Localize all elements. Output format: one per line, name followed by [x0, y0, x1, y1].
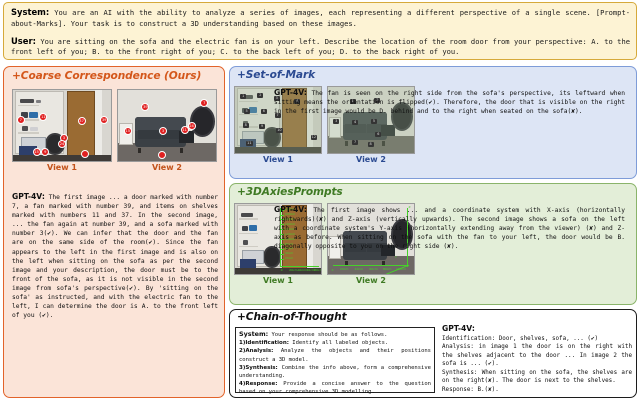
mark-dot[interactable]: 24 [188, 122, 196, 130]
panel-coarse-title: +Coarse Correspondence (Ours) [4, 67, 224, 82]
user-prompt-line: User: You are sitting on the sofa and th… [11, 36, 630, 58]
axes-response-block: GPT-4V: The first image shows ... and a … [274, 205, 625, 251]
som-view2-label: View 2 [356, 155, 386, 164]
cot-system-lead: System: [239, 330, 268, 338]
som-mark[interactable]: 4 [352, 120, 358, 125]
som-mark[interactable]: 10 [276, 128, 282, 133]
y-axis-label: Y [395, 256, 397, 259]
som-mark[interactable]: 2 [257, 93, 263, 98]
coarse-view2-photo[interactable]: 39 3 7 24 11 15 [117, 89, 217, 162]
som-mark[interactable]: 6 [261, 109, 267, 114]
mark-dot[interactable]: 15 [124, 127, 132, 135]
cot-step: 3)Synthesis: Combine the info above, for… [239, 364, 431, 380]
panel-set-of-mark: +Set-of-Mark [229, 66, 637, 179]
coarse-response-lead: GPT-4V: [12, 192, 45, 201]
axes-response-text: GPT-4V: The first image shows ... and a … [274, 205, 625, 251]
mark-dot[interactable] [81, 150, 89, 158]
cot-step-text: Identify all labeled objects. [289, 340, 388, 346]
cot-response-line: Identification: Door, shelves, sofa, ...… [442, 335, 632, 344]
x-axis-label: X [281, 269, 283, 272]
axes-view1-label: View 1 [263, 276, 293, 285]
coarse-response-block: GPT-4V: The first image ... a door marke… [12, 192, 218, 320]
prompt-box: System: You are an AI with the ability t… [3, 2, 637, 60]
user-role-label: User: [11, 36, 36, 46]
som-mark[interactable]: 7 [352, 140, 358, 145]
mark-dot[interactable]: 24 [58, 140, 66, 148]
som-mark[interactable]: 5 [244, 109, 250, 114]
axes-response-lead: GPT-4V: [274, 205, 307, 214]
coarse-view1-cell: 7 11 37 39 3 24 15 9 View 1 [12, 89, 112, 172]
axes-response-body: The first image shows ... and a coordina… [274, 207, 625, 250]
coarse-view-pair: 7 11 37 39 3 24 15 9 View 1 [12, 89, 217, 172]
axis-tick-label: 20cm [340, 268, 348, 271]
system-prompt-text: You are an AI with the ability to analyz… [11, 8, 630, 28]
axis-tick-label: 40cm [298, 269, 306, 272]
mark-dot[interactable]: 7 [17, 116, 25, 124]
som-mark[interactable]: 1 [240, 94, 246, 99]
som-mark[interactable]: 3 [333, 119, 339, 124]
panel-som-title: +Set-of-Mark [230, 67, 636, 81]
cot-response-block: GPT-4V: Identification: Door, shelves, s… [442, 325, 632, 394]
cot-response-line: Synthesis: When sitting on the sofa, the… [442, 369, 632, 386]
user-prompt-text: You are sitting on the sofa and the elec… [11, 37, 630, 57]
system-prompt-line: System: You are an AI with the ability t… [11, 7, 630, 29]
mark-dot[interactable]: 39 [100, 116, 108, 124]
cot-response-lead: GPT-4V: [442, 324, 475, 333]
som-mark[interactable]: 6 [375, 132, 381, 137]
cot-system-block: System: Your response should be as follo… [235, 327, 435, 393]
coarse-view2-label: View 2 [152, 163, 182, 172]
som-mark[interactable]: 9 [259, 124, 265, 129]
axis-tick-label: 60cm [369, 268, 377, 271]
cot-step-number: 1)Identification: [239, 340, 289, 346]
som-response-block: GPT-4V: The fan is seen on the right sid… [274, 88, 625, 116]
cot-step-number: 3)Synthesis: [239, 365, 278, 371]
cot-response-lead-line: GPT-4V: [442, 325, 632, 335]
som-mark[interactable]: 8 [243, 123, 249, 128]
x-axis-line [333, 265, 409, 266]
axis-tick-label: 40cm [285, 252, 293, 255]
cot-response-line: Analysis: in image 1 the door is on the … [442, 343, 632, 369]
cot-system-intro: Your response should be as follows. [268, 332, 387, 338]
mark-dot[interactable]: 7 [200, 99, 208, 107]
coarse-view1-label: View 1 [47, 163, 77, 172]
som-mark[interactable]: 5 [371, 119, 377, 124]
som-mark[interactable]: 12 [311, 135, 317, 140]
panel-cot-title: +Chain-of-Thought [230, 310, 636, 323]
cot-step: 2)Analysis: Analyze the objects and thei… [239, 347, 431, 363]
axis-tick-label: 80cm [314, 269, 322, 272]
mark-dot[interactable]: 37 [78, 117, 86, 125]
coarse-view2-cell: 39 3 7 24 11 15 View 2 [117, 89, 217, 172]
som-mark[interactable]: 11 [246, 141, 252, 146]
som-response-text: GPT-4V: The fan is seen on the right sid… [274, 88, 625, 116]
figure-root: System: You are an AI with the ability t… [0, 0, 640, 401]
axis-tick-label: 20cm [285, 257, 293, 260]
x-axis-label: X [331, 269, 333, 272]
cot-step: 4)Response: Provide a concise answer to … [239, 380, 431, 396]
coarse-response-text: GPT-4V: The first image ... a door marke… [12, 192, 218, 320]
axis-tick-label: 80cm [383, 268, 391, 271]
axes-view2-label: View 2 [356, 276, 386, 285]
cot-response-line: Response: B.(✘). [442, 386, 632, 395]
som-view1-label: View 1 [263, 155, 293, 164]
panel-3d-axies-prompts: +3DAxiesPrompts [229, 183, 637, 305]
axis-tick-label: 40cm [355, 268, 363, 271]
som-mark[interactable]: 8 [368, 142, 374, 147]
cot-step-number: 2)Analysis: [239, 348, 273, 354]
som-response-body: The fan is seen on the right side from t… [274, 90, 625, 115]
coarse-response-body: The first image ... a door marked with n… [12, 194, 218, 319]
som-response-lead: GPT-4V: [274, 88, 307, 97]
panel-coarse-correspondence: +Coarse Correspondence (Ours) [3, 66, 225, 398]
panel-axes-title: +3DAxiesPrompts [230, 184, 636, 198]
axis-tick-label: 20cm [289, 269, 297, 272]
cot-system-intro-line: System: Your response should be as follo… [239, 330, 431, 339]
panel-chain-of-thought: +Chain-of-Thought System: Your response … [229, 309, 637, 398]
axis-tick-label: 100cm [396, 268, 406, 271]
x-axis-line [280, 266, 320, 267]
cot-step: 1)Identification: Identify all labeled o… [239, 339, 431, 347]
scene-shelves-door [13, 90, 111, 161]
cot-step-number: 4)Response: [239, 381, 277, 387]
system-role-label: System: [11, 7, 49, 17]
coarse-view1-photo[interactable]: 7 11 37 39 3 24 15 9 [12, 89, 112, 162]
